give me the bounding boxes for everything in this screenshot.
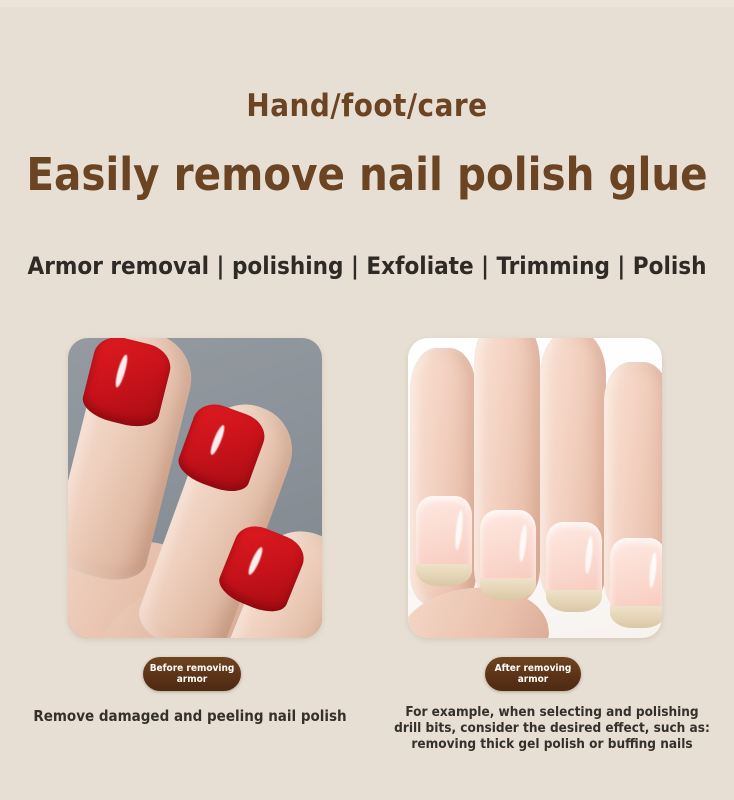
before-badge: Before removing armor [143, 657, 241, 691]
after-caption-line3: removing thick gel polish or buffing nai… [374, 736, 730, 752]
after-image-card [408, 338, 662, 638]
nail-free-edge [610, 606, 662, 628]
after-caption-line1: For example, when selecting and polishin… [374, 704, 730, 720]
before-badge-line1: Before removing [150, 663, 235, 674]
before-badge-line2: armor [177, 674, 208, 685]
after-badge-line2: armor [518, 674, 549, 685]
eyebrow-text: Hand/foot/care [0, 88, 734, 124]
before-photo [68, 338, 322, 638]
before-image-card [68, 338, 322, 638]
page-title: Easily remove nail polish glue [0, 148, 734, 201]
after-caption: For example, when selecting and polishin… [374, 704, 730, 752]
after-badge: After removing armor [485, 657, 581, 691]
after-badge-line1: After removing [495, 663, 572, 674]
feature-list-text: Armor removal | polishing | Exfoliate | … [0, 252, 734, 280]
after-caption-line2: drill bits, consider the desired effect,… [374, 720, 730, 736]
after-photo [408, 338, 662, 638]
top-edge-strip [0, 0, 734, 7]
product-infographic: Hand/foot/care Easily remove nail polish… [0, 0, 734, 800]
before-caption: Remove damaged and peeling nail polish [20, 707, 360, 725]
